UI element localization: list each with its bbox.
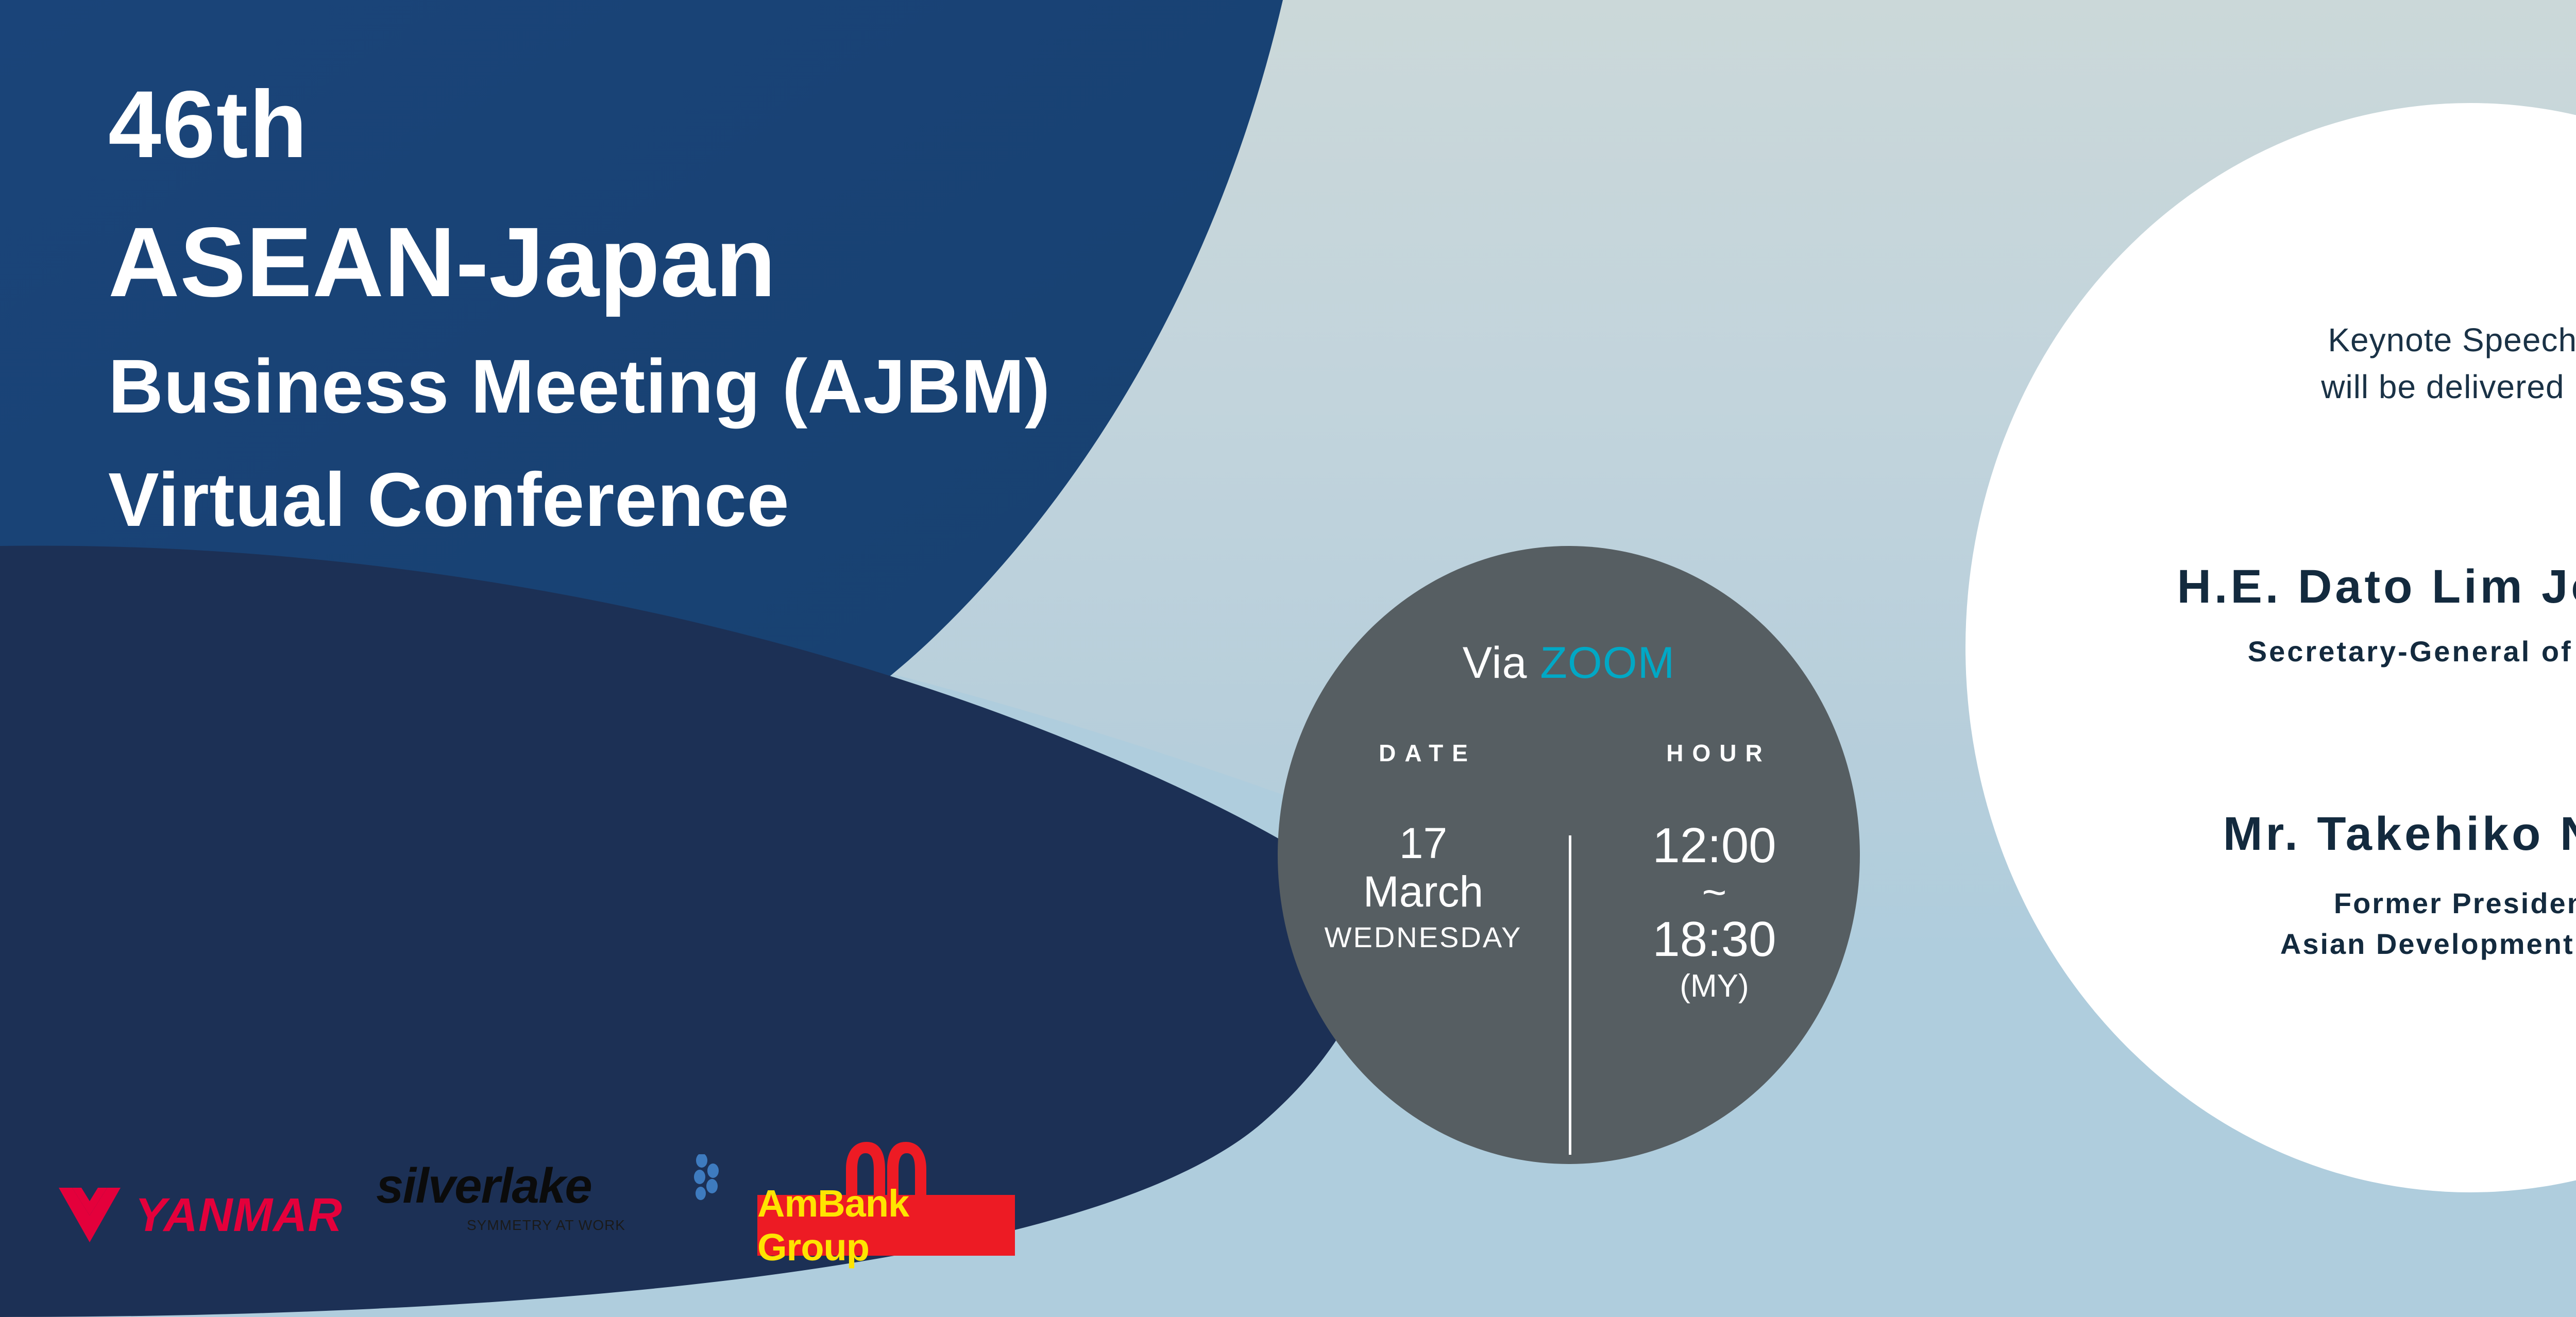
date-weekday: WEDNESDAY: [1278, 916, 1569, 959]
keynote-intro-line1: Keynote Speeches: [2321, 317, 2576, 364]
platform-label: Via ZOOM: [1278, 638, 1860, 689]
time-zone: (MY): [1569, 966, 1860, 1007]
hour-value: 12:00 ~ 18:30 (MY): [1569, 819, 1860, 1007]
speaker-2-name: Mr. Takehiko Nakao: [2223, 807, 2576, 861]
date-heading: DATE: [1278, 739, 1569, 767]
date-month: March: [1278, 867, 1569, 916]
title-line-edition: 46th: [108, 77, 1164, 173]
title-line-virtual: Virtual Conference: [108, 462, 1164, 538]
silverlake-dots-icon: [664, 1154, 720, 1211]
event-title-block: 46th ASEAN-Japan Business Meeting (AJBM)…: [108, 77, 1164, 538]
yanmar-wordmark: YANMAR: [135, 1188, 343, 1242]
banner-root: 46th ASEAN-Japan Business Meeting (AJBM)…: [0, 0, 2576, 1317]
keynote-intro-line2: will be delivered by:: [2321, 364, 2576, 411]
keynote-intro: Keynote Speeches will be delivered by:: [2321, 317, 2576, 411]
silverlake-tagline: SYMMETRY AT WORK: [376, 1217, 716, 1234]
keynote-circle: Keynote Speeches will be delivered by: H…: [1965, 103, 2576, 1192]
zoom-wordmark: ZOOM: [1540, 638, 1675, 688]
date-hour-divider: [1569, 835, 1571, 1155]
time-start: 12:00: [1569, 819, 1860, 873]
ambank-wordmark: AmBank Group: [757, 1182, 1015, 1269]
time-end: 18:30: [1569, 913, 1860, 966]
via-text: Via: [1463, 638, 1540, 688]
date-day: 17: [1278, 819, 1569, 867]
date-time-circle: Via ZOOM DATE HOUR 17 March WEDNESDAY 12…: [1278, 546, 1860, 1164]
title-line-meeting: Business Meeting (AJBM): [108, 349, 1164, 425]
speaker-2-role-line2: Asian Development Bank: [2280, 923, 2576, 965]
speaker-1-role: Secretary-General of ASEAN: [2248, 635, 2576, 668]
date-value: 17 March WEDNESDAY: [1278, 819, 1569, 1007]
time-separator: ~: [1569, 873, 1860, 913]
yanmar-chevron-icon: [57, 1185, 123, 1245]
speaker-2-role-line1: Former President,: [2280, 883, 2576, 924]
ambank-plate: AmBank Group: [757, 1195, 1015, 1256]
title-line-asean-japan: ASEAN-Japan: [108, 213, 1164, 312]
speaker-1-name: H.E. Dato Lim Jock Hoi: [2177, 560, 2576, 614]
speaker-2-role: Former President, Asian Development Bank: [2280, 883, 2576, 965]
date-hour-headings: DATE HOUR: [1278, 739, 1860, 767]
yanmar-logo-icon: YANMAR: [57, 1185, 343, 1245]
silverlake-logo-icon: silverlake SYMMETRY AT WORK: [376, 1161, 716, 1234]
hour-heading: HOUR: [1569, 739, 1860, 767]
